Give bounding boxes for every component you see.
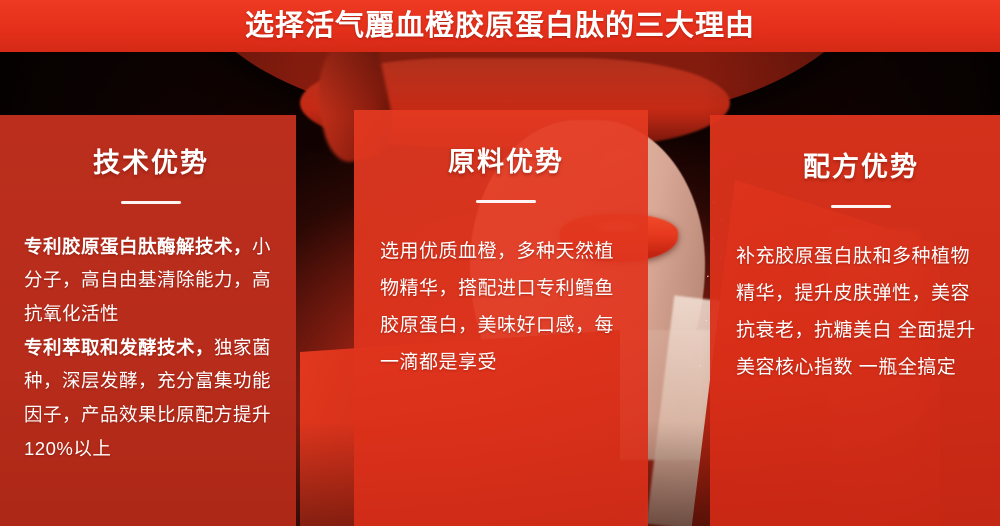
panel-body-formula: 补充胶原蛋白肽和多种植物精华，提升皮肤弹性，美容抗衰老，抗糖美白 全面提升美容核… xyxy=(736,208,986,386)
panel-paragraph: 专利胶原蛋白肽酶解技术，小分子，高自由基清除能力，高抗氧化活性 xyxy=(24,230,278,331)
panel-technology-advantage: 技术优势 专利胶原蛋白肽酶解技术，小分子，高自由基清除能力，高抗氧化活性 专利萃… xyxy=(0,115,296,526)
panel-body-ingredient: 选用优质血橙，多种天然植物精华，搭配进口专利鳕鱼胶原蛋白，美味好口感，每一滴都是… xyxy=(380,203,632,381)
panel-heading-formula: 配方优势 xyxy=(736,115,986,183)
panel-divider-technology xyxy=(121,201,181,204)
promo-poster: 选择活气麗血橙胶原蛋白肽的三大理由 技术优势 专利胶原蛋白肽酶解技术，小分子，高… xyxy=(0,0,1000,526)
panel-paragraph: 选用优质血橙，多种天然植物精华，搭配进口专利鳕鱼胶原蛋白，美味好口感，每一滴都是… xyxy=(380,233,632,381)
panel-ingredient-advantage: 原料优势 选用优质血橙，多种天然植物精华，搭配进口专利鳕鱼胶原蛋白，美味好口感，… xyxy=(354,110,648,526)
paragraph-strong-lead: 专利胶原蛋白肽酶解技术， xyxy=(24,236,252,257)
page-title: 选择活气麗血橙胶原蛋白肽的三大理由 xyxy=(245,12,755,41)
paragraph-strong-lead: 专利萃取和发酵技术， xyxy=(24,337,214,358)
panel-heading-ingredient: 原料优势 xyxy=(380,110,632,178)
header-band: 选择活气麗血橙胶原蛋白肽的三大理由 xyxy=(0,0,1000,52)
panel-divider-ingredient xyxy=(476,200,536,203)
panel-paragraph: 补充胶原蛋白肽和多种植物精华，提升皮肤弹性，美容抗衰老，抗糖美白 全面提升美容核… xyxy=(736,238,986,386)
paragraph-rest: 选用优质血橙，多种天然植物精华，搭配进口专利鳕鱼胶原蛋白，美味好口感，每一滴都是… xyxy=(380,241,614,373)
paragraph-rest: 补充胶原蛋白肽和多种植物精华，提升皮肤弹性，美容抗衰老，抗糖美白 全面提升美容核… xyxy=(736,246,976,378)
panel-heading-technology: 技术优势 xyxy=(24,115,278,179)
panel-body-technology: 专利胶原蛋白肽酶解技术，小分子，高自由基清除能力，高抗氧化活性 专利萃取和发酵技… xyxy=(24,204,278,466)
panel-formula-advantage: 配方优势 补充胶原蛋白肽和多种植物精华，提升皮肤弹性，美容抗衰老，抗糖美白 全面… xyxy=(710,115,1000,526)
panel-divider-formula xyxy=(831,205,891,208)
panel-paragraph: 专利萃取和发酵技术，独家菌种，深层发酵，充分富集功能因子，产品效果比原配方提升1… xyxy=(24,331,278,466)
